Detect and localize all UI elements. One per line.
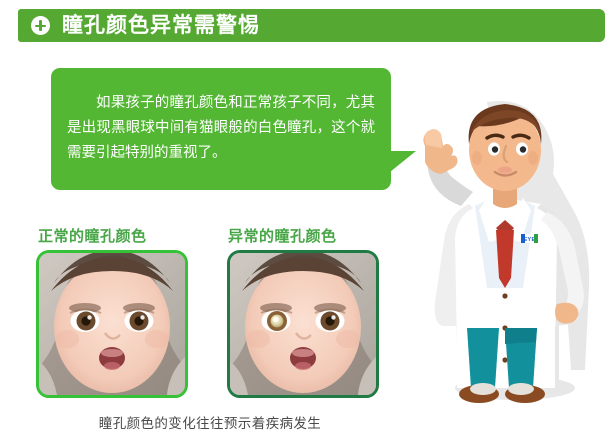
plus-circle-icon (31, 16, 50, 35)
infographic-root: 瞳孔颜色异常需警惕 如果孩子的瞳孔颜色和正常孩子不同，尤其是出现黑眼球中间有猫眼… (0, 0, 613, 441)
doctor-raised-arm (423, 129, 473, 206)
footer-caption: 瞳孔颜色的变化往往预示着疾病发生 (0, 412, 420, 432)
baby-normal-illustration (39, 253, 185, 395)
speech-bubble: 如果孩子的瞳孔颜色和正常孩子不同，尤其是出现黑眼球中间有猫眼般的白色瞳孔，这个就… (51, 68, 391, 190)
caption-normal-pupil: 正常的瞳孔颜色 (38, 225, 147, 246)
header-banner: 瞳孔颜色异常需警惕 (18, 9, 605, 42)
plus-vertical-bar (39, 20, 42, 31)
photo-abnormal-pupil (227, 250, 379, 398)
caption-abnormal-pupil: 异常的瞳孔颜色 (228, 225, 337, 246)
doctor-head (469, 104, 542, 191)
eye-badge: EYE (521, 234, 538, 243)
doctor-figure: EYE (395, 88, 613, 441)
speech-bubble-text: 如果孩子的瞳孔颜色和正常孩子不同，尤其是出现黑眼球中间有猫眼般的白色瞳孔，这个就… (67, 91, 375, 166)
coat-button (502, 357, 507, 362)
doctor-illustration: EYE (395, 88, 613, 441)
coat-button (502, 293, 507, 298)
page-title: 瞳孔颜色异常需警惕 (62, 15, 260, 36)
eye-badge-label: EYE (524, 237, 536, 243)
baby-abnormal-illustration (230, 253, 376, 395)
photo-normal-pupil (36, 250, 188, 398)
